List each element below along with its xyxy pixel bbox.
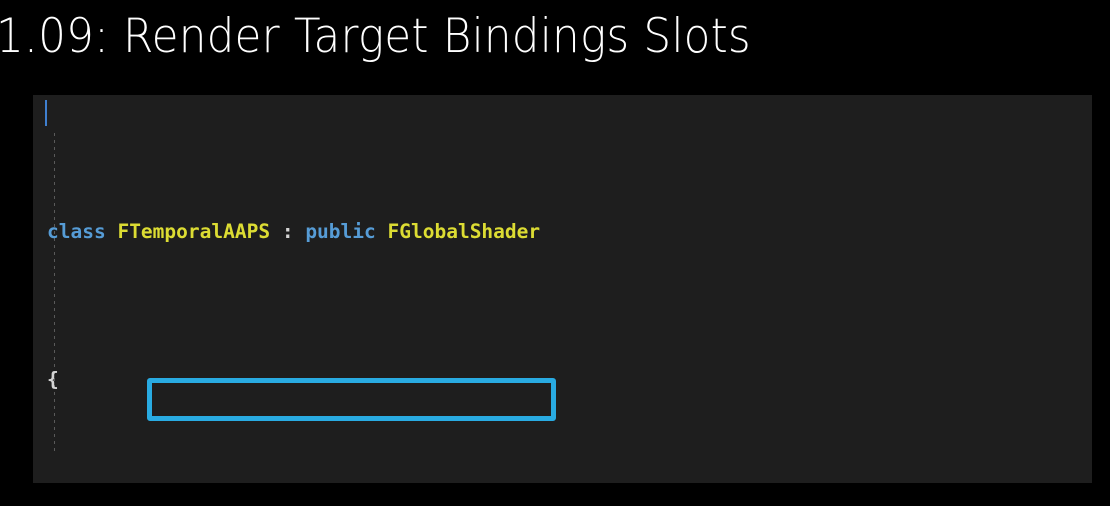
token-space-2 — [376, 220, 388, 243]
token-colon: : — [270, 220, 305, 243]
token-keyword-class: class — [47, 220, 106, 243]
page-title: 1.09: Render Target Bindings Slots — [0, 0, 1038, 78]
token-type-ftemporalaaps: FTemporalAAPS — [117, 220, 270, 243]
slide-root: 1.09: Render Target Bindings Slots class… — [0, 0, 1110, 506]
code-block: class FTemporalAAPS : public FGlobalShad… — [33, 95, 1092, 483]
token-type-fglobalshader: FGlobalShader — [388, 220, 541, 243]
code-lines: class FTemporalAAPS : public FGlobalShad… — [47, 99, 975, 483]
token-brace-open: { — [47, 368, 59, 391]
token-space-1 — [106, 220, 118, 243]
code-line-2: { — [47, 365, 975, 395]
code-line-1: class FTemporalAAPS : public FGlobalShad… — [47, 217, 975, 247]
token-keyword-public: public — [305, 220, 375, 243]
